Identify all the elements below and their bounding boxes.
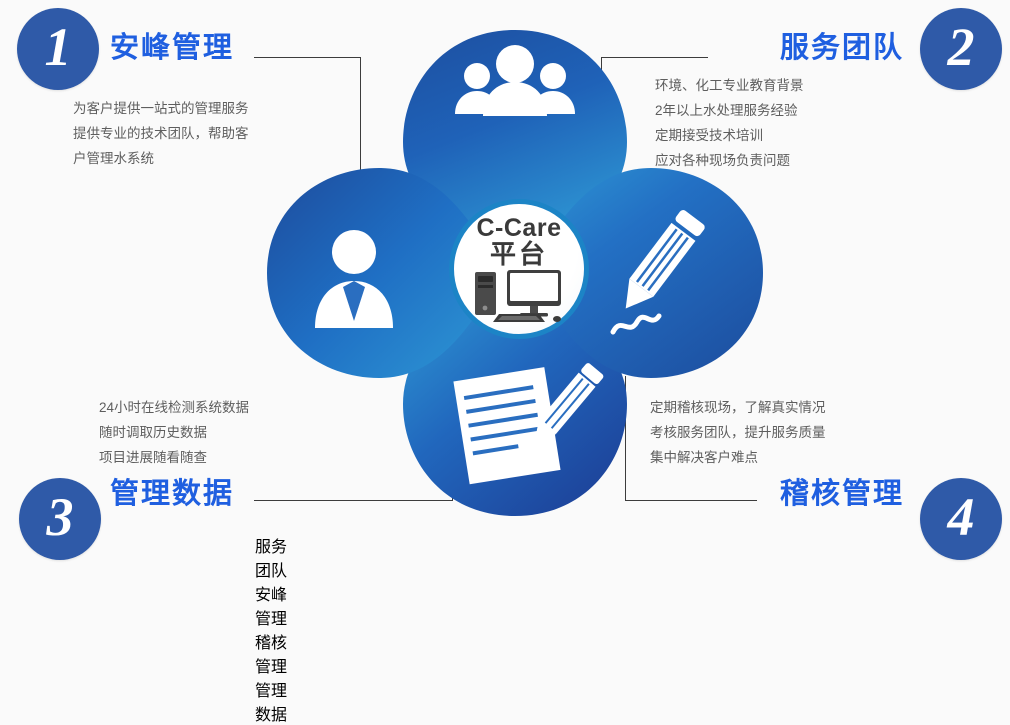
body-line: 户管理水系统 bbox=[73, 146, 249, 171]
center-hub: C-Care 平台 bbox=[449, 199, 589, 339]
section-title-2: 服务团队 bbox=[780, 24, 904, 66]
body-line: 集中解决客户难点 bbox=[650, 445, 826, 470]
body-line: 为客户提供一站式的管理服务 bbox=[73, 96, 249, 121]
section-body-2: 环境、化工专业教育背景 2年以上水处理服务经验 定期接受技术培训 应对各种现场负… bbox=[655, 73, 804, 173]
badge-3: 3 bbox=[19, 478, 101, 560]
petal-bottom-label: 管理 数据 bbox=[255, 677, 405, 725]
section-title-4: 稽核管理 bbox=[780, 470, 904, 512]
petal-top-label: 服务 团队 bbox=[255, 533, 405, 581]
badge-2-number: 2 bbox=[948, 20, 975, 74]
body-line: 项目进展随看随查 bbox=[99, 445, 249, 470]
section-title-1: 安峰管理 bbox=[110, 24, 234, 66]
section-title-3: 管理数据 bbox=[110, 470, 234, 512]
desktop-computer-icon bbox=[469, 266, 569, 324]
section-body-4: 定期稽核现场，了解真实情况 考核服务团队，提升服务质量 集中解决客户难点 bbox=[650, 395, 826, 470]
badge-3-number: 3 bbox=[47, 490, 74, 544]
section-body-1: 为客户提供一站式的管理服务 提供专业的技术团队，帮助客 户管理水系统 bbox=[73, 96, 249, 171]
hub-brand-label: C-Care bbox=[477, 215, 562, 241]
badge-1-number: 1 bbox=[45, 20, 72, 74]
petal-left-label: 安峰 管理 bbox=[255, 581, 375, 629]
body-line: 环境、化工专业教育背景 bbox=[655, 73, 804, 98]
badge-2: 2 bbox=[920, 8, 1002, 90]
body-line: 随时调取历史数据 bbox=[99, 420, 249, 445]
infographic-canvas: 服务 团队 安峰 管理 稽核 管理 管理 数据 C-Care 平台 bbox=[0, 0, 1010, 572]
badge-4: 4 bbox=[920, 478, 1002, 560]
badge-4-number: 4 bbox=[948, 490, 975, 544]
body-line: 定期稽核现场，了解真实情况 bbox=[650, 395, 826, 420]
section-body-3: 24小时在线检测系统数据 随时调取历史数据 项目进展随看随查 bbox=[99, 395, 249, 470]
petal-right-label: 稽核 管理 bbox=[255, 629, 375, 677]
hub-brand-cn-label: 平台 bbox=[490, 241, 548, 268]
body-line: 定期接受技术培训 bbox=[655, 123, 804, 148]
body-line: 24小时在线检测系统数据 bbox=[99, 395, 249, 420]
body-line: 提供专业的技术团队，帮助客 bbox=[73, 121, 249, 146]
body-line: 应对各种现场负责问题 bbox=[655, 148, 804, 173]
body-line: 2年以上水处理服务经验 bbox=[655, 98, 804, 123]
badge-1: 1 bbox=[17, 8, 99, 90]
body-line: 考核服务团队，提升服务质量 bbox=[650, 420, 826, 445]
